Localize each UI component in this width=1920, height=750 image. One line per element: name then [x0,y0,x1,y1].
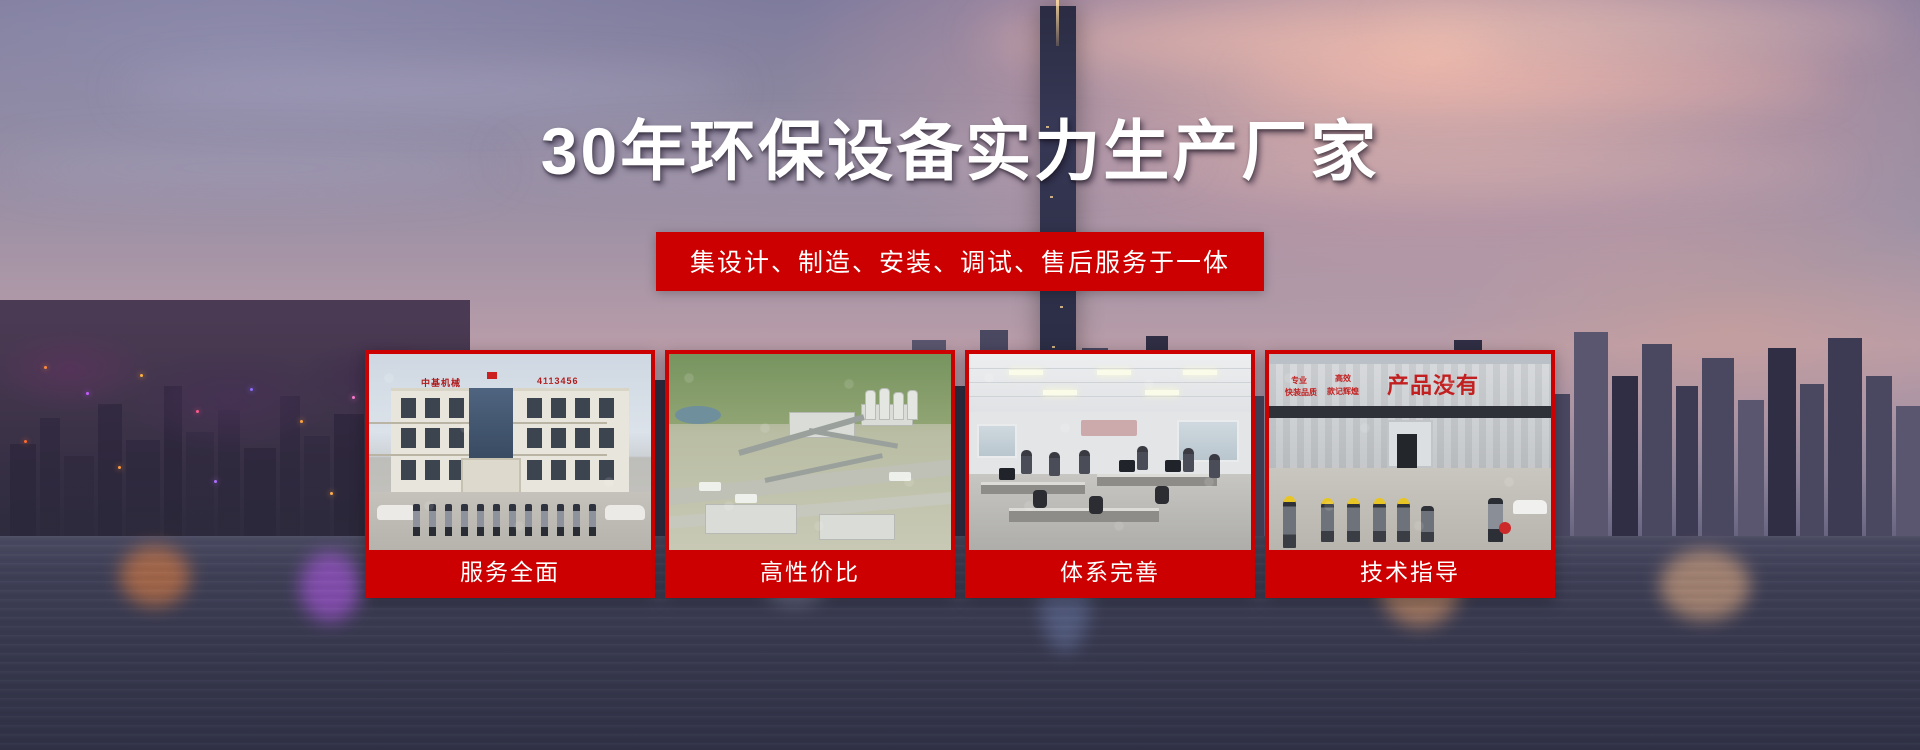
card-caption: 技术指导 [1269,550,1551,594]
banner-subtitle-bar: 集设计、制造、安装、调试、售后服务于一体 [656,232,1264,291]
card-thumbnail-plant-aerial [669,354,951,550]
feature-card[interactable]: 产品没有 专业 快装品质 高效 款记辉煌 [1265,350,1555,598]
banner-headline: 30年环保设备实力生产厂家 [0,116,1920,187]
feature-card[interactable]: 体系完善 [965,350,1255,598]
card-thumbnail-factory-yard: 产品没有 专业 快装品质 高效 款记辉煌 [1269,354,1551,550]
feature-card[interactable]: 中基机械 4113456 [365,350,655,598]
card-overlay-slogan-3: 高效 [1335,374,1351,384]
card-thumbnail-headquarters: 中基机械 4113456 [369,354,651,550]
card-overlay-slogan-main: 产品没有 [1387,368,1479,400]
feature-card-list: 中基机械 4113456 [365,350,1555,598]
card-caption: 服务全面 [369,550,651,594]
card-overlay-company-sign: 中基机械 [421,376,461,389]
banner-content: 30年环保设备实力生产厂家 集设计、制造、安装、调试、售后服务于一体 中基机械 … [0,0,1920,750]
card-caption: 体系完善 [969,550,1251,594]
card-thumbnail-office-interior [969,354,1251,550]
card-overlay-slogan-4: 款记辉煌 [1327,387,1359,397]
hero-banner: 30年环保设备实力生产厂家 集设计、制造、安装、调试、售后服务于一体 中基机械 … [0,0,1920,750]
card-overlay-phone: 4113456 [537,376,579,386]
card-caption: 高性价比 [669,550,951,594]
card-overlay-slogan-1: 专业 [1291,376,1307,386]
card-overlay-slogan-2: 快装品质 [1285,388,1317,398]
feature-card[interactable]: 高性价比 [665,350,955,598]
